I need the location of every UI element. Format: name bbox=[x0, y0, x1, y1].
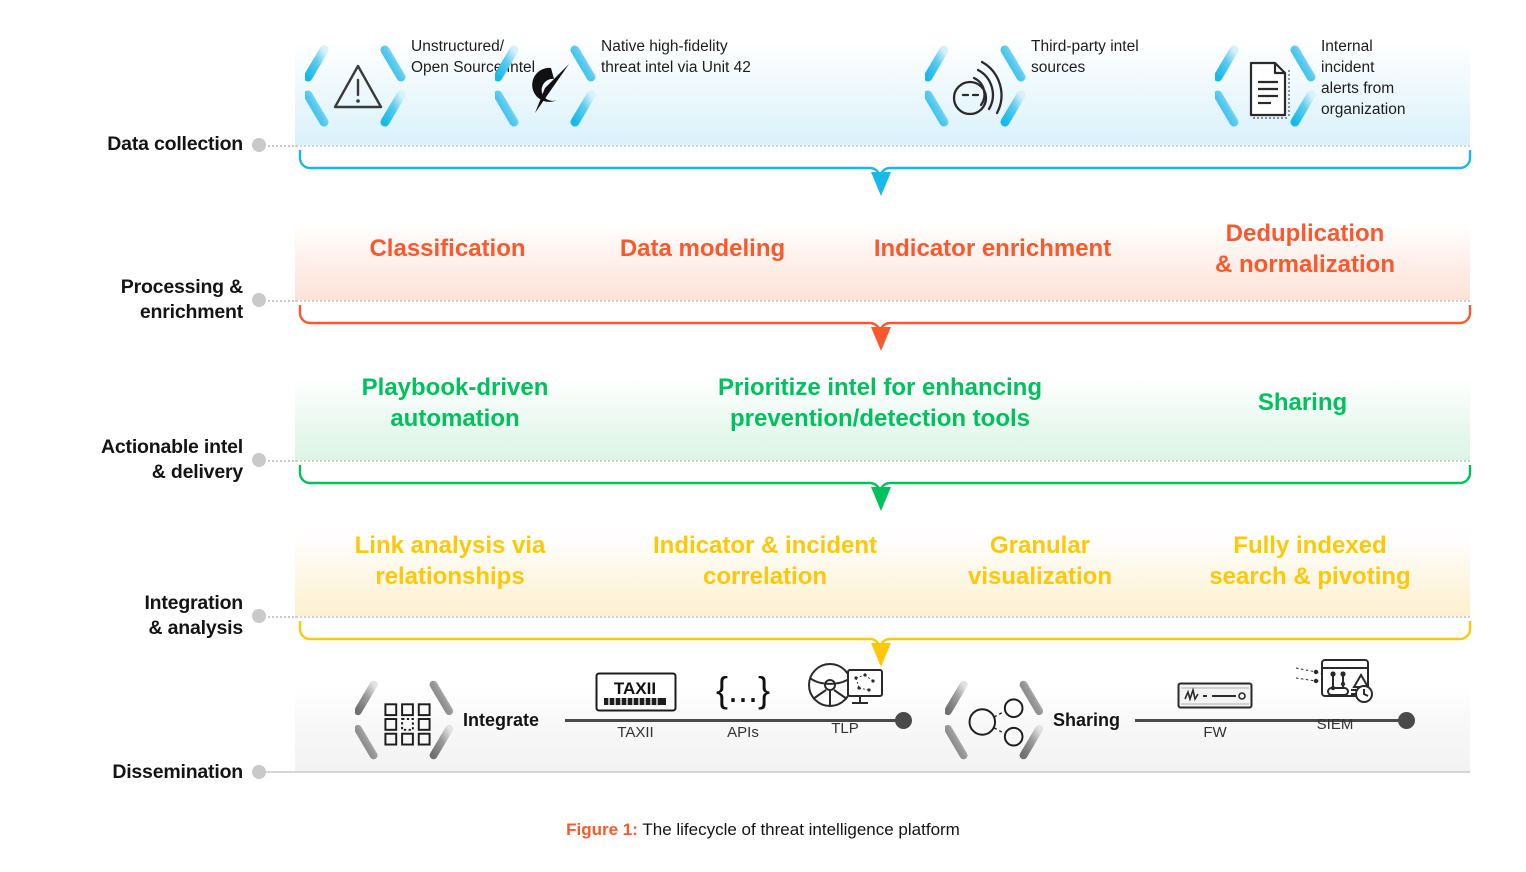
figure-caption-text: The lifecycle of threat intelligence pla… bbox=[638, 820, 960, 839]
processing-item-4: Deduplication & normalization bbox=[1155, 218, 1455, 280]
divider-processing bbox=[295, 300, 1470, 302]
stage-label-actionable-intel: Actionable intel & delivery bbox=[0, 435, 243, 485]
divider-actionable-intel bbox=[295, 460, 1470, 462]
source-card-4: Internal incident alerts from organizati… bbox=[1215, 30, 1475, 142]
stage-label-processing: Processing & enrichment bbox=[0, 275, 243, 325]
siem-icon bbox=[1275, 660, 1395, 704]
dissemination-group-integrate: Integrate bbox=[355, 665, 539, 775]
dissemination-group-label-sharing: Sharing bbox=[1053, 710, 1120, 731]
flow-connector-green bbox=[285, 463, 1485, 521]
taxii-badge-icon: TAXII bbox=[578, 668, 693, 712]
dissemination-item-tlp: TLP bbox=[790, 664, 900, 737]
source-label-4: Internal incident alerts from organizati… bbox=[1321, 30, 1405, 120]
dissemination-item-label-siem: SIEM bbox=[1275, 716, 1395, 733]
radar-signal-icon bbox=[925, 30, 1031, 142]
stage-dot-actionable-intel bbox=[252, 453, 266, 467]
actionable-item-3: Sharing bbox=[1160, 387, 1445, 418]
compass-needle-icon bbox=[495, 30, 601, 142]
integration-item-4: Fully indexed search & pivoting bbox=[1150, 530, 1470, 592]
dissemination-item-label-tlp: TLP bbox=[790, 720, 900, 737]
integration-item-3: Granular visualization bbox=[925, 530, 1155, 592]
sharing-track-endpoint bbox=[1398, 712, 1415, 729]
svg-text:TAXII: TAXII bbox=[613, 679, 655, 698]
dissemination-item-label-fw: FW bbox=[1160, 724, 1270, 741]
firewall-icon bbox=[1160, 668, 1270, 712]
stage-label-dissemination: Dissemination bbox=[0, 760, 243, 785]
processing-item-3: Indicator enrichment bbox=[845, 233, 1140, 264]
source-label-2: Native high-fidelity threat intel via Un… bbox=[601, 30, 751, 78]
curly-braces-icon: {...} bbox=[688, 668, 798, 712]
processing-item-2: Data modeling bbox=[560, 233, 845, 264]
dissemination-group-sharing: Sharing bbox=[945, 665, 1120, 775]
dissemination-item-taxii: TAXII TAXII bbox=[578, 668, 693, 741]
share-nodes-hex-icon bbox=[945, 665, 1049, 775]
svg-text:{...}: {...} bbox=[716, 669, 770, 710]
actionable-item-1: Playbook-driven automation bbox=[305, 372, 605, 434]
source-card-3: Third-party intel sources bbox=[925, 30, 1175, 142]
warning-triangle-icon bbox=[305, 30, 411, 142]
dissemination-item-siem: SIEM bbox=[1275, 660, 1395, 733]
integration-item-1: Link analysis via relationships bbox=[300, 530, 600, 592]
actionable-item-2: Prioritize intel for enhancing preventio… bbox=[640, 372, 1120, 434]
figure-caption: Figure 1: The lifecycle of threat intell… bbox=[0, 820, 1526, 840]
dissemination-item-label-taxii: TAXII bbox=[578, 724, 693, 741]
stage-dot-processing bbox=[252, 293, 266, 307]
figure-caption-prefix: Figure 1: bbox=[566, 820, 638, 839]
flow-connector-blue bbox=[285, 148, 1485, 206]
stage-label-integration: Integration & analysis bbox=[0, 591, 243, 641]
divider-integration bbox=[295, 616, 1470, 618]
threat-intel-lifecycle-figure: Data collection Processing & enrichment … bbox=[0, 0, 1526, 872]
tlp-dashboard-icon bbox=[790, 664, 900, 708]
dissemination-item-fw: FW bbox=[1160, 668, 1270, 741]
document-alert-icon bbox=[1215, 30, 1321, 142]
flow-connector-orange bbox=[285, 303, 1485, 361]
stage-connector-data-collection bbox=[268, 145, 298, 147]
dissemination-item-apis: {...} APIs bbox=[688, 668, 798, 741]
stage-dot-dissemination bbox=[252, 765, 266, 779]
stage-connector-actionable-intel bbox=[268, 460, 298, 462]
grid-nodes-hex-icon bbox=[355, 665, 459, 775]
stage-connector-integration bbox=[268, 616, 298, 618]
dissemination-group-label-integrate: Integrate bbox=[463, 710, 539, 731]
stage-connector-dissemination bbox=[266, 771, 298, 773]
source-card-2: Native high-fidelity threat intel via Un… bbox=[495, 30, 815, 142]
source-label-3: Third-party intel sources bbox=[1031, 30, 1139, 78]
stage-dot-data-collection bbox=[252, 138, 266, 152]
stage-connector-processing bbox=[268, 300, 298, 302]
processing-item-1: Classification bbox=[305, 233, 590, 264]
integration-item-2: Indicator & incident correlation bbox=[610, 530, 920, 592]
stage-dot-integration bbox=[252, 609, 266, 623]
stage-label-data-collection: Data collection bbox=[0, 132, 243, 157]
dissemination-item-label-apis: APIs bbox=[688, 724, 798, 741]
divider-data-collection bbox=[295, 145, 1470, 147]
